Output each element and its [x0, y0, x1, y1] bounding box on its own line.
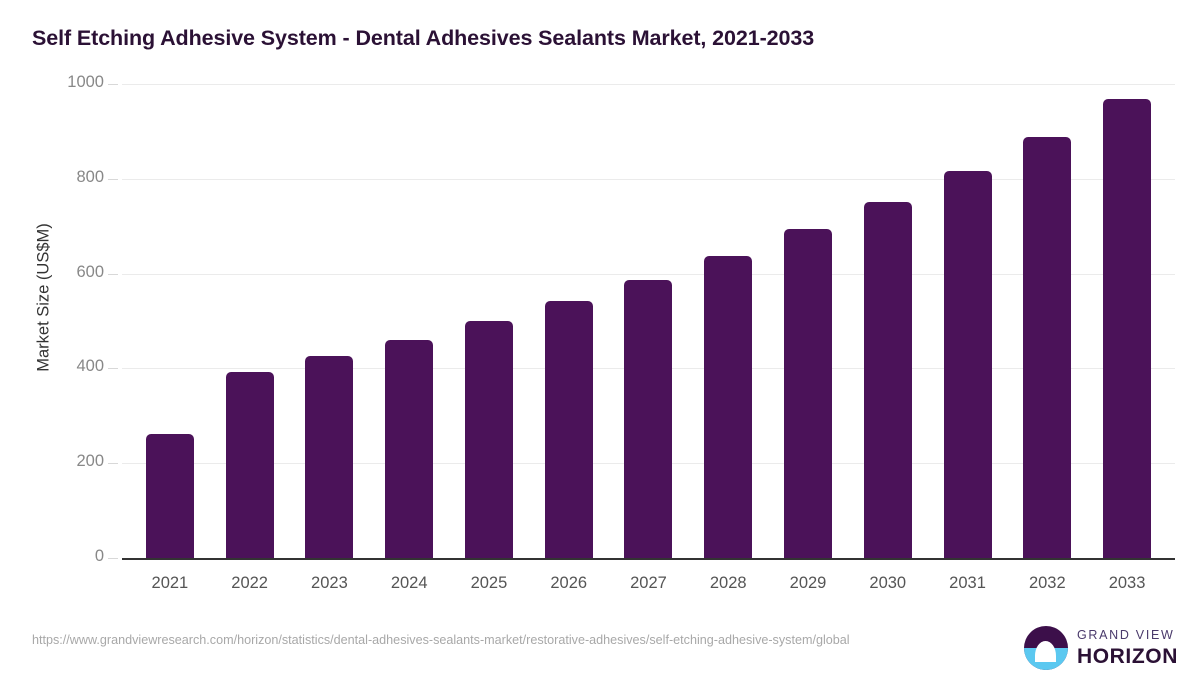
logo-text: GRAND VIEW HORIZON: [1077, 629, 1178, 667]
sunrise-horizon-icon: [1024, 626, 1068, 670]
bar-series: [122, 84, 1175, 558]
logo-ray-2: [1040, 655, 1052, 658]
x-tick-label: 2023: [290, 574, 370, 593]
y-tick-label: 200: [0, 452, 104, 471]
y-tick-label: 800: [0, 168, 104, 187]
bar[interactable]: [545, 301, 593, 558]
footer: https://www.grandviewresearch.com/horizo…: [0, 622, 1200, 675]
x-tick-label: 2028: [688, 574, 768, 593]
page-title: Self Etching Adhesive System - Dental Ad…: [32, 26, 814, 51]
bar-slot: [210, 84, 290, 558]
bar[interactable]: [146, 434, 194, 558]
chart-page: Self Etching Adhesive System - Dental Ad…: [0, 0, 1200, 675]
bar[interactable]: [624, 280, 672, 558]
logo-line-2: HORIZON: [1077, 646, 1178, 667]
bar[interactable]: [864, 202, 912, 558]
logo-ray-1: [1037, 650, 1054, 653]
bar[interactable]: [704, 256, 752, 558]
x-axis-labels: 2021202220232024202520262027202820292030…: [122, 574, 1175, 593]
bar-slot: [529, 84, 609, 558]
bar-slot: [768, 84, 848, 558]
bar[interactable]: [305, 356, 353, 558]
source-url[interactable]: https://www.grandviewresearch.com/horizo…: [32, 631, 932, 649]
y-tick-label: 400: [0, 357, 104, 376]
bar-slot: [449, 84, 529, 558]
x-tick-label: 2027: [609, 574, 689, 593]
x-tick-label: 2024: [369, 574, 449, 593]
bar-slot: [1007, 84, 1087, 558]
x-tick-label: 2029: [768, 574, 848, 593]
y-tick-mark: [108, 463, 118, 464]
bar-slot: [1087, 84, 1167, 558]
bar-slot: [848, 84, 928, 558]
x-tick-label: 2033: [1087, 574, 1167, 593]
bar[interactable]: [944, 171, 992, 558]
y-tick-label: 1000: [0, 73, 104, 92]
x-tick-label: 2032: [1007, 574, 1087, 593]
y-tick-mark: [108, 368, 118, 369]
bar[interactable]: [1103, 99, 1151, 558]
x-tick-label: 2022: [210, 574, 290, 593]
bar-slot: [688, 84, 768, 558]
bar-slot: [369, 84, 449, 558]
y-tick-mark: [108, 179, 118, 180]
y-tick-label: 600: [0, 263, 104, 282]
y-tick-mark: [108, 558, 118, 559]
x-tick-label: 2026: [529, 574, 609, 593]
bar-slot: [928, 84, 1008, 558]
x-tick-label: 2021: [130, 574, 210, 593]
x-tick-label: 2030: [848, 574, 928, 593]
x-axis-line: [122, 558, 1175, 560]
bar-slot: [130, 84, 210, 558]
bar-slot: [290, 84, 370, 558]
bar[interactable]: [226, 372, 274, 558]
bar[interactable]: [385, 340, 433, 558]
y-tick-mark: [108, 274, 118, 275]
bar[interactable]: [1023, 137, 1071, 558]
plot-area: Market Size (US$M) 02004006008001000 202…: [0, 84, 1200, 584]
bar-slot: [609, 84, 689, 558]
x-tick-label: 2031: [928, 574, 1008, 593]
brand-logo: GRAND VIEW HORIZON: [1024, 626, 1178, 670]
bar[interactable]: [784, 229, 832, 558]
y-axis-title: Market Size (US$M): [35, 88, 54, 508]
bar[interactable]: [465, 321, 513, 558]
x-tick-label: 2025: [449, 574, 529, 593]
y-tick-label: 0: [0, 547, 104, 566]
y-tick-mark: [108, 84, 118, 85]
logo-line-1: GRAND VIEW: [1077, 629, 1178, 642]
